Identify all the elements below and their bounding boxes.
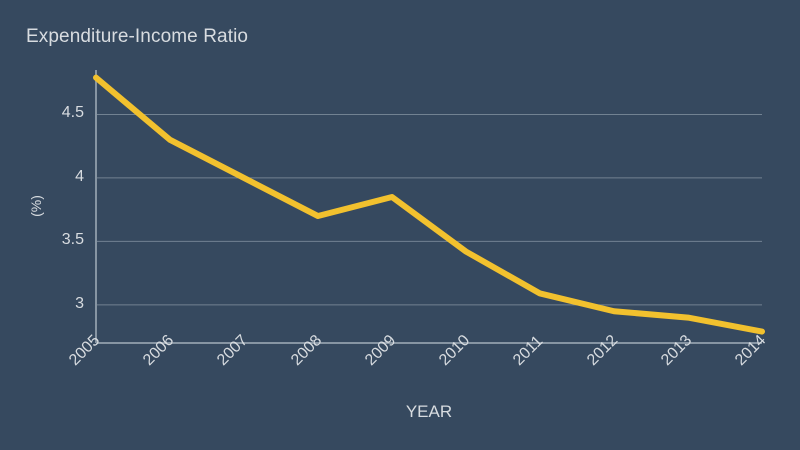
chart-container: Expenditure-Income Ratio 4.543.53 200520…	[0, 0, 800, 450]
y-tick-label: 4	[14, 168, 84, 186]
data-series-line	[96, 78, 762, 332]
gridlines	[96, 114, 762, 304]
y-tick-label: 3.5	[14, 231, 84, 249]
y-tick-label: 4.5	[14, 104, 84, 122]
y-axis-title: (%)	[28, 176, 44, 236]
x-axis-title: YEAR	[329, 402, 529, 422]
y-tick-label: 3	[14, 295, 84, 313]
plot-area	[0, 0, 800, 450]
